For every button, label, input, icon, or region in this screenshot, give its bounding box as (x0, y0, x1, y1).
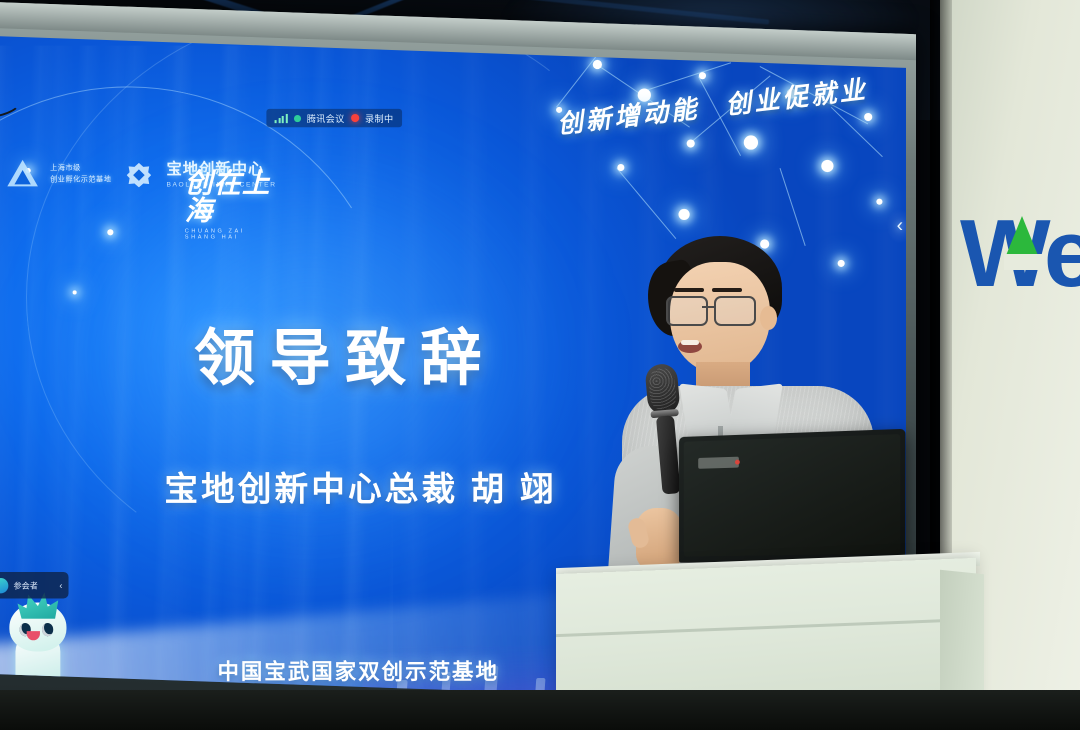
network-node (864, 113, 872, 121)
signal-bars-icon (275, 113, 288, 122)
laptop-brand-badge (698, 457, 739, 469)
floor (0, 690, 1080, 730)
collar-right (727, 383, 783, 440)
laptop (679, 429, 905, 569)
screenshot-stage: We (0, 0, 1080, 730)
logo1-line2: 创业孵化示范基地 (50, 176, 111, 185)
eyebrow (674, 288, 704, 292)
network-node (876, 199, 882, 205)
tencent-meeting-status-bar[interactable]: 腾讯会议 录制中 (266, 109, 401, 127)
slide-bottom-caption: 中国宝武国家双创示范基地 (217, 656, 499, 687)
glasses-lens-left (666, 296, 708, 326)
incubation-base-logo-icon (7, 160, 38, 191)
meeting-app-name: 腾讯会议 (307, 111, 345, 124)
network-node (107, 229, 113, 235)
incubation-base-logo-text: 上海市级 创业孵化示范基地 (50, 165, 111, 185)
network-node (699, 72, 706, 79)
logo1-line1: 上海市级 (50, 165, 111, 174)
meeting-participant-thumbnail[interactable]: 参会者 ‹ (0, 572, 69, 599)
network-node (744, 135, 758, 149)
ear (760, 306, 777, 330)
glasses-bridge (702, 306, 716, 308)
chevron-left-icon[interactable]: ‹ (59, 580, 62, 590)
calligraphy-text: 创在上海 (185, 170, 277, 225)
slide-subline: 宝地创新中心总裁 胡 翊 (164, 462, 556, 511)
collar-left (679, 383, 735, 440)
participant-name: 参会者 (13, 580, 54, 591)
network-node (617, 164, 624, 171)
calligraphy-subtext: CHUANG ZAI SHANG HAI (185, 228, 277, 240)
glasses-lens-right (714, 296, 756, 326)
teeth (681, 340, 699, 345)
network-node (678, 209, 689, 220)
chuang-zai-shanghai-logo: 创在上海 CHUANG ZAI SHANG HAI (185, 170, 277, 211)
recording-dot-icon (351, 114, 359, 122)
eyebrow (712, 288, 742, 292)
network-node (687, 139, 695, 147)
baoland-flower-icon (124, 160, 155, 191)
recording-label: 录制中 (365, 111, 393, 124)
avatar (0, 578, 8, 593)
network-node (593, 60, 602, 69)
wall-logo-accent-triangle-icon (1005, 216, 1039, 258)
slide-headline: 领导致辞 (194, 309, 496, 398)
network-node (73, 290, 77, 294)
network-node (821, 160, 833, 172)
wall-logo-mask (1004, 254, 1044, 270)
connection-status-dot-icon (293, 114, 300, 121)
